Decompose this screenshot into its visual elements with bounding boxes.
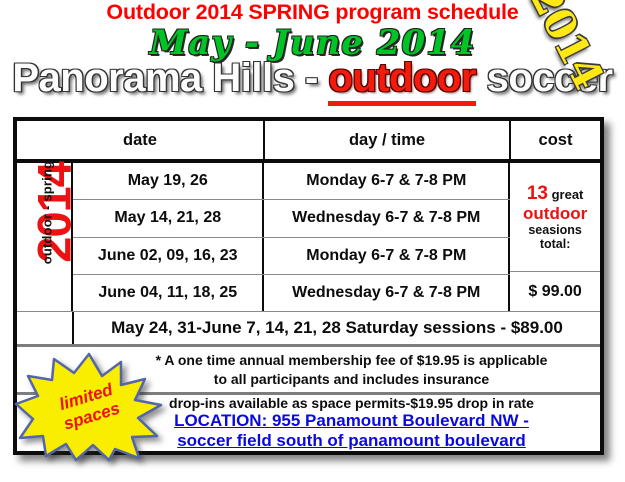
column-header-cost: cost xyxy=(511,121,600,159)
cost-count-line: 13 great xyxy=(527,187,584,202)
cell-day-time: Wednesday 6-7 & 7-8 PM xyxy=(264,200,510,236)
main-title-outdoor: outdoor xyxy=(328,56,476,106)
dropins-text: drop-ins available as space permits-$19.… xyxy=(169,395,534,411)
cost-great: great xyxy=(548,187,583,202)
limited-spaces-badge: limited spaces xyxy=(14,352,164,462)
main-title: Panorama Hills - outdoor soccer xyxy=(0,56,625,101)
side-season-text: outdoor - spring xyxy=(40,154,55,272)
cell-day-time: Monday 6-7 & 7-8 PM xyxy=(264,163,510,199)
cost-outdoor: outdoor xyxy=(523,204,587,223)
table-row: May 19, 26 Monday 6-7 & 7-8 PM xyxy=(73,163,510,199)
column-header-day-time: day / time xyxy=(265,121,511,159)
side-year-label: 2014 outdoor - spring xyxy=(17,163,73,311)
saturday-row-text: May 24, 31-June 7, 14, 21, 28 Saturday s… xyxy=(74,312,600,344)
cell-day-time: Wednesday 6-7 & 7-8 PM xyxy=(264,275,510,311)
table-row: June 04, 11, 18, 25 Wednesday 6-7 & 7-8 … xyxy=(73,274,510,311)
cell-date: May 19, 26 xyxy=(73,163,264,199)
cost-column: 13 great outdoor seasions total: $ 99.00 xyxy=(510,163,600,311)
starburst-icon xyxy=(14,352,164,462)
main-title-prefix: Panorama Hills - xyxy=(12,56,328,100)
table-row: May 14, 21, 28 Wednesday 6-7 & 7-8 PM xyxy=(73,199,510,236)
location-line-2: soccer field south of panamount boulevar… xyxy=(177,431,526,451)
cost-total-label: total: xyxy=(523,237,587,251)
cost-amount: $ 99.00 xyxy=(510,271,600,311)
saturday-row-spacer xyxy=(17,312,74,344)
cell-date: June 02, 09, 16, 23 xyxy=(73,238,264,274)
table-body: 2014 outdoor - spring May 19, 26 Monday … xyxy=(17,163,600,311)
saturday-row: May 24, 31-June 7, 14, 21, 28 Saturday s… xyxy=(17,311,600,344)
location-line-1: LOCATION: 955 Panamount Boulevard NW - xyxy=(174,411,529,431)
cost-summary: 13 great outdoor seasions total: xyxy=(510,163,600,271)
cost-seasions: seasions xyxy=(523,223,587,237)
table-header-row: date day / time cost xyxy=(17,121,600,163)
cost-count: 13 xyxy=(527,183,548,204)
cell-date: June 04, 11, 18, 25 xyxy=(73,275,264,311)
schedule-rows: May 19, 26 Monday 6-7 & 7-8 PM May 14, 2… xyxy=(73,163,510,311)
cell-date: May 14, 21, 28 xyxy=(73,200,264,236)
fee-note-line-1: * A one time annual membership fee of $1… xyxy=(156,351,548,369)
poster-root: Outdoor 2014 SPRING program schedule May… xyxy=(0,0,625,475)
table-row: June 02, 09, 16, 23 Monday 6-7 & 7-8 PM xyxy=(73,237,510,274)
cell-day-time: Monday 6-7 & 7-8 PM xyxy=(264,238,510,274)
fee-note-line-2: to all participants and includes insuran… xyxy=(156,370,548,388)
